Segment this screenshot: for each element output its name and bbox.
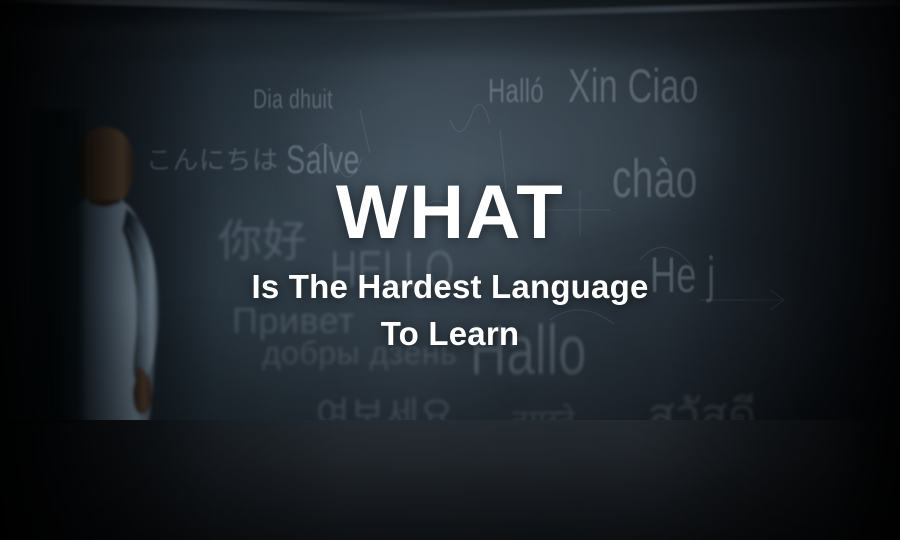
banner-image: Dia dhuitHallóXin CiaoこんにちはSalvechào你好HE… [0,0,900,540]
floor-shadow [0,420,900,540]
chalk-word: Xin Ciao [568,58,699,113]
floor [0,420,900,540]
chalk-word: Halló [488,72,544,110]
chalk-word: добры дзень [262,335,457,372]
chalk-word: chào [612,148,698,210]
chalk-word: He j [650,246,715,304]
chalk-word: Hallo [470,310,587,390]
chalk-word: HELLO [330,240,455,300]
chalk-word: 你好 [218,205,307,269]
chalk-word: Salve [286,138,360,183]
chalk-word: Dia dhuit [253,84,333,115]
